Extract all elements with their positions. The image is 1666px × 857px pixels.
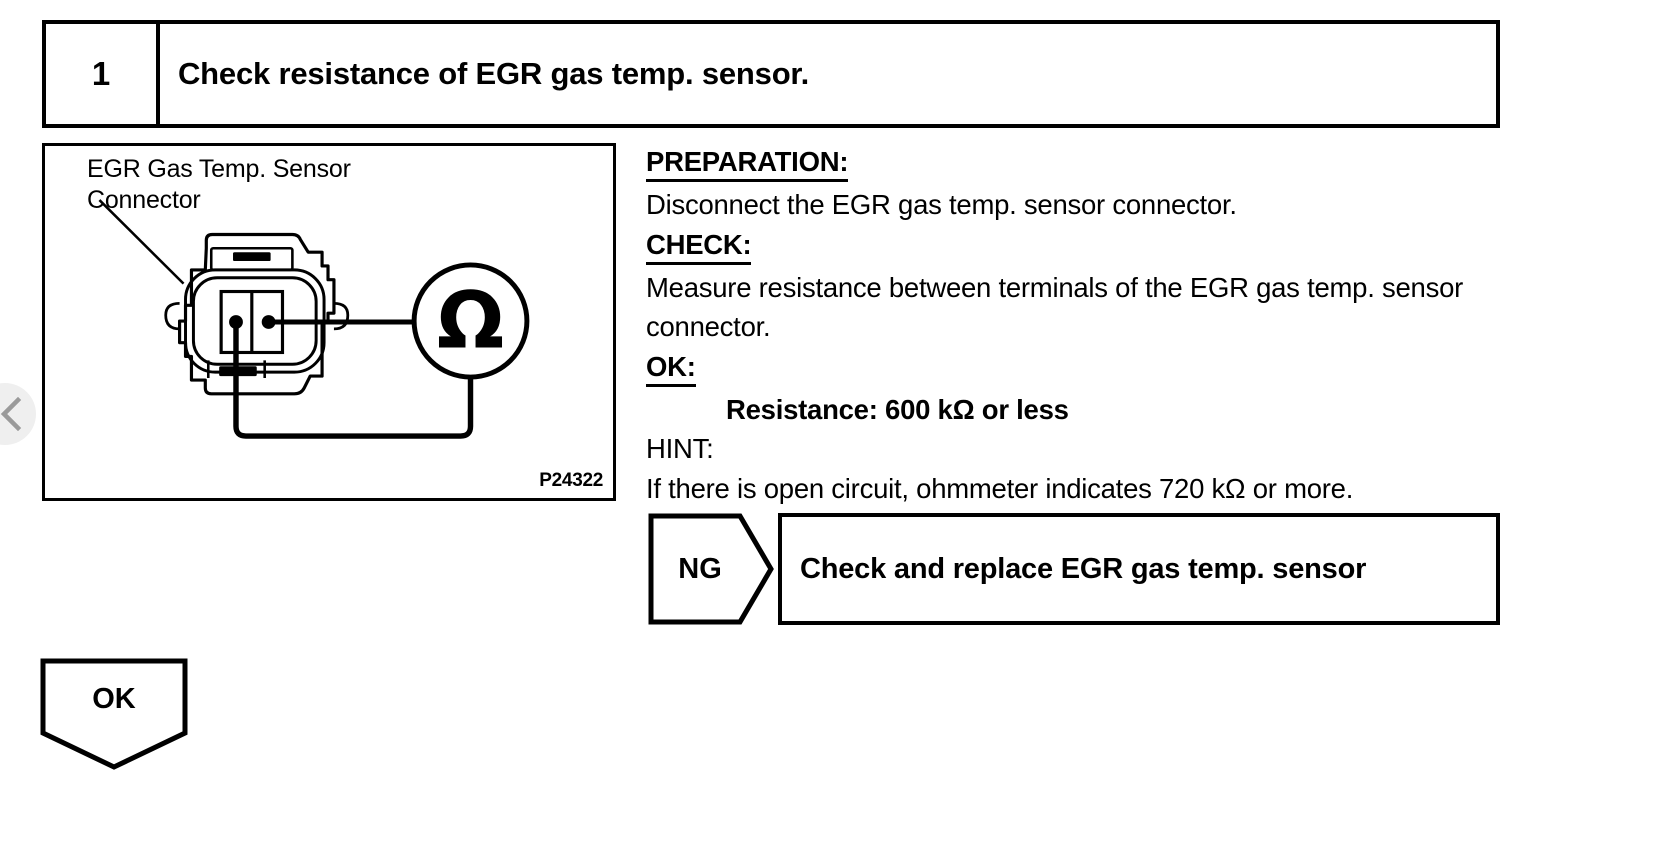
ng-branch: NG Check and replace EGR gas temp. senso…: [648, 513, 1500, 625]
ng-arrow-tag: NG: [648, 513, 774, 625]
illustration-caption: EGR Gas Temp. Sensor Connector: [87, 154, 351, 215]
check-heading: CHECK:: [646, 229, 751, 265]
step-title-cell: Check resistance of EGR gas temp. sensor…: [160, 24, 1496, 124]
chevron-left-icon: [0, 397, 22, 431]
check-heading-line: CHECK:: [646, 225, 1518, 268]
ok-heading: OK:: [646, 351, 696, 387]
hint-heading-line: HINT:: [646, 429, 1518, 469]
check-text: Measure resistance between terminals of …: [646, 268, 1518, 347]
step-title: Check resistance of EGR gas temp. sensor…: [178, 56, 809, 92]
ng-label: NG: [648, 513, 752, 625]
ok-specification: Resistance: 600 kΩ or less: [646, 390, 1518, 430]
preparation-heading-line: PREPARATION:: [646, 142, 1518, 185]
connector-top-keyway: [211, 248, 292, 270]
step-number-cell: 1: [46, 24, 160, 124]
step-header-bar: 1 Check resistance of EGR gas temp. sens…: [42, 20, 1500, 128]
ohmmeter-omega-symbol: Ω: [437, 275, 504, 367]
illustration-figure-code: P24322: [539, 470, 603, 492]
illustration-panel: Ω EGR Gas Temp. Sensor Connector P24322: [42, 143, 616, 501]
preparation-text: Disconnect the EGR gas temp. sensor conn…: [646, 185, 1518, 225]
ok-label: OK: [40, 658, 188, 740]
prev-page-button[interactable]: [0, 383, 36, 445]
step-number: 1: [92, 55, 110, 93]
ok-branch: OK: [40, 658, 188, 770]
hint-heading: HINT:: [646, 433, 714, 464]
ng-action-box: Check and replace EGR gas temp. sensor: [778, 513, 1500, 625]
ng-action-text: Check and replace EGR gas temp. sensor: [800, 553, 1366, 586]
instruction-text-block: PREPARATION: Disconnect the EGR gas temp…: [646, 142, 1518, 508]
hint-text: If there is open circuit, ohmmeter indic…: [646, 469, 1518, 509]
preparation-heading: PREPARATION:: [646, 146, 848, 182]
service-manual-page: 1 Check resistance of EGR gas temp. sens…: [0, 0, 1666, 857]
ok-heading-line: OK:: [646, 347, 1518, 390]
